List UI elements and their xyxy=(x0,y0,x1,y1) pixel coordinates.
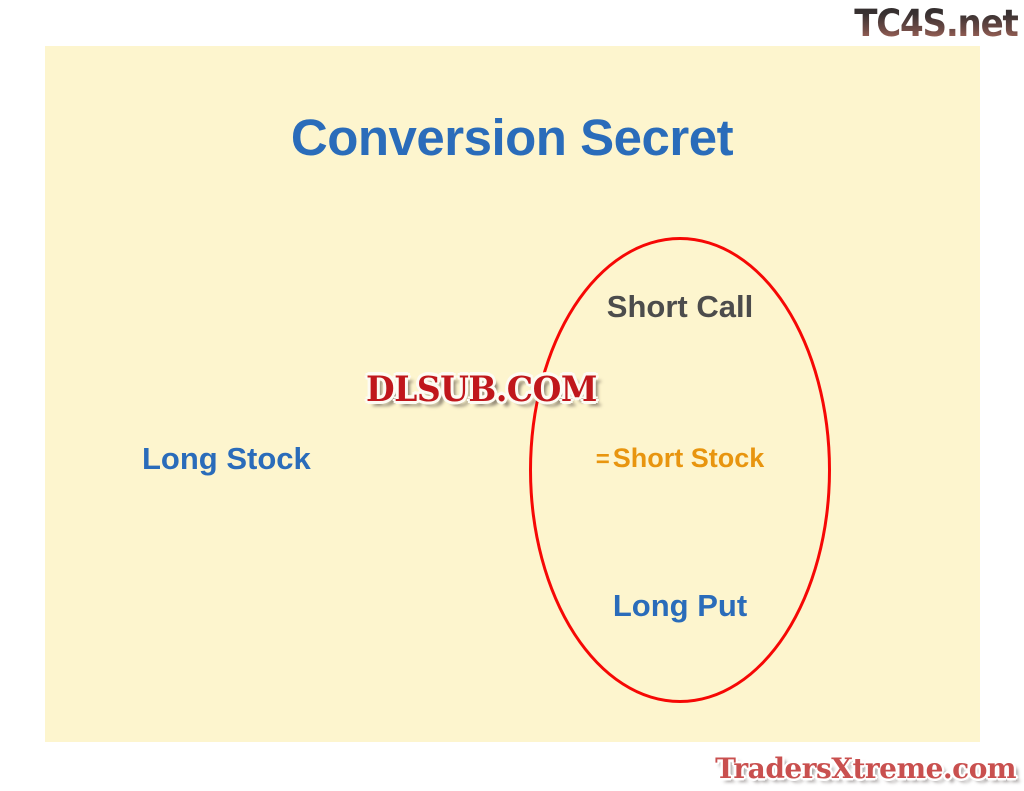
diagram-label-short-stock: =Short Stock xyxy=(530,443,830,474)
equals-sign: = xyxy=(596,446,613,473)
diagram-label-short-call: Short Call xyxy=(530,289,830,325)
brand-logo-top: TC4S.net xyxy=(855,2,1018,46)
diagram-label-long-put: Long Put xyxy=(530,588,830,624)
diagram-result-label: Short Stock xyxy=(613,443,765,473)
page-title: Conversion Secret xyxy=(0,108,1024,167)
watermark-dlsub: DLSUB.COM xyxy=(366,368,597,409)
diagram-label-long-stock: Long Stock xyxy=(142,441,311,477)
brand-logo-bottom: TradersXtreme.com xyxy=(715,752,1016,785)
